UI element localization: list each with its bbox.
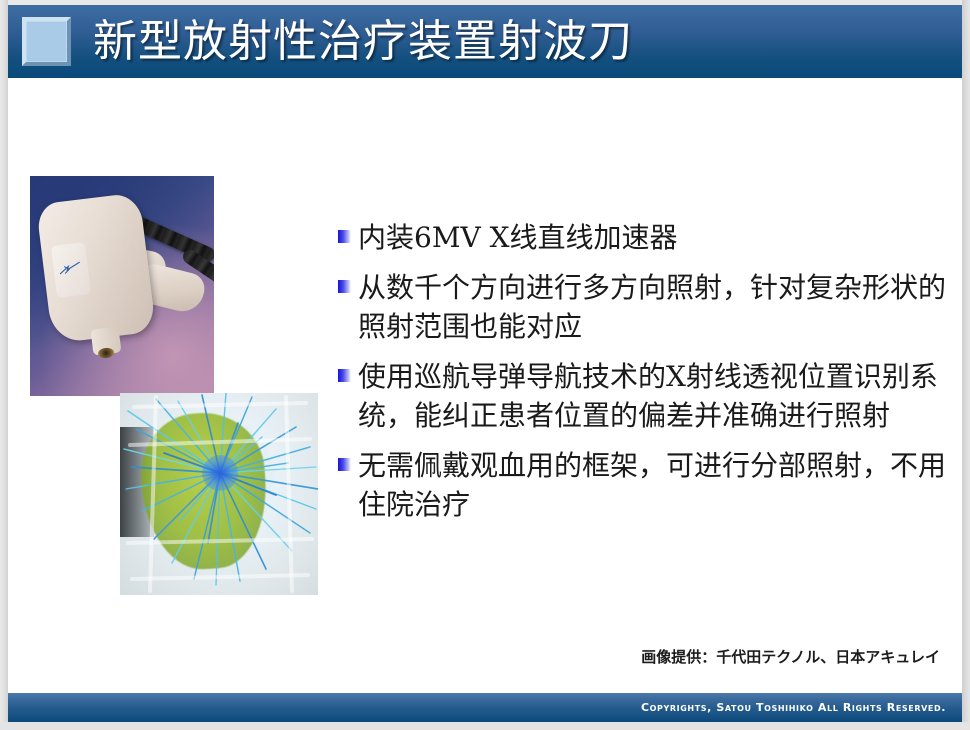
square-bullet-icon <box>338 280 351 293</box>
slide-footer-bar: Copyrights, Satou Toshihiko All Rights R… <box>8 693 962 722</box>
beam-convergence-point <box>202 455 238 491</box>
slide-frame-left <box>0 0 8 730</box>
square-bullet-icon <box>338 369 351 382</box>
bullet-item: 从数千个方向进行多方向照射，针对复杂形状的照射范围也能对应 <box>338 268 948 346</box>
slide-frame-bottom <box>0 722 970 730</box>
beam-ray-bundle <box>120 393 318 595</box>
presentation-slide: 新型放射性治疗装置射波刀 <box>0 0 970 730</box>
bullet-item-label: 使用巡航导弹导航技术的X射线透视位置识别系统，能纠正患者位置的偏差并准确进行照射 <box>358 357 948 435</box>
image-credit-caption: 画像提供：千代田テクノル、日本アキュレイ <box>641 646 940 667</box>
cyberknife-linac-head-photo <box>30 176 214 396</box>
bullet-list: 内装6MV X线直线加速器 从数千个方向进行多方向照射，针对复杂形状的照射范围也… <box>338 218 948 535</box>
linac-beam-aperture <box>97 347 114 359</box>
slide-content-area: 内装6MV X线直线加速器 从数千个方向进行多方向照射，针对复杂形状的照射范围也… <box>8 78 962 693</box>
bullet-item-label: 从数千个方向进行多方向照射，针对复杂形状的照射范围也能对应 <box>358 268 948 346</box>
slide-title-bar: 新型放射性治疗装置射波刀 <box>8 5 962 78</box>
page-title: 新型放射性治疗装置射波刀 <box>93 19 633 65</box>
square-bullet-icon <box>338 458 351 471</box>
bullet-item-label: 内装6MV X线直线加速器 <box>358 218 678 257</box>
bullet-item: 无需佩戴观血用的框架，可进行分部照射，不用住院治疗 <box>338 446 948 524</box>
slide-frame-right <box>962 0 970 730</box>
square-bullet-icon <box>338 230 351 243</box>
bullet-item-label: 无需佩戴观血用的框架，可进行分部照射，不用住院治疗 <box>358 446 948 524</box>
bullet-item: 使用巡航导弹导航技术的X射线透视位置识别系统，能纠正患者位置的偏差并准确进行照射 <box>338 357 948 435</box>
radiation-beam-visualization-photo <box>120 393 318 595</box>
square-bevel-icon <box>22 17 71 66</box>
copyright-notice: Copyrights, Satou Toshihiko All Rights R… <box>641 701 946 714</box>
bullet-item: 内装6MV X线直线加速器 <box>338 218 948 257</box>
